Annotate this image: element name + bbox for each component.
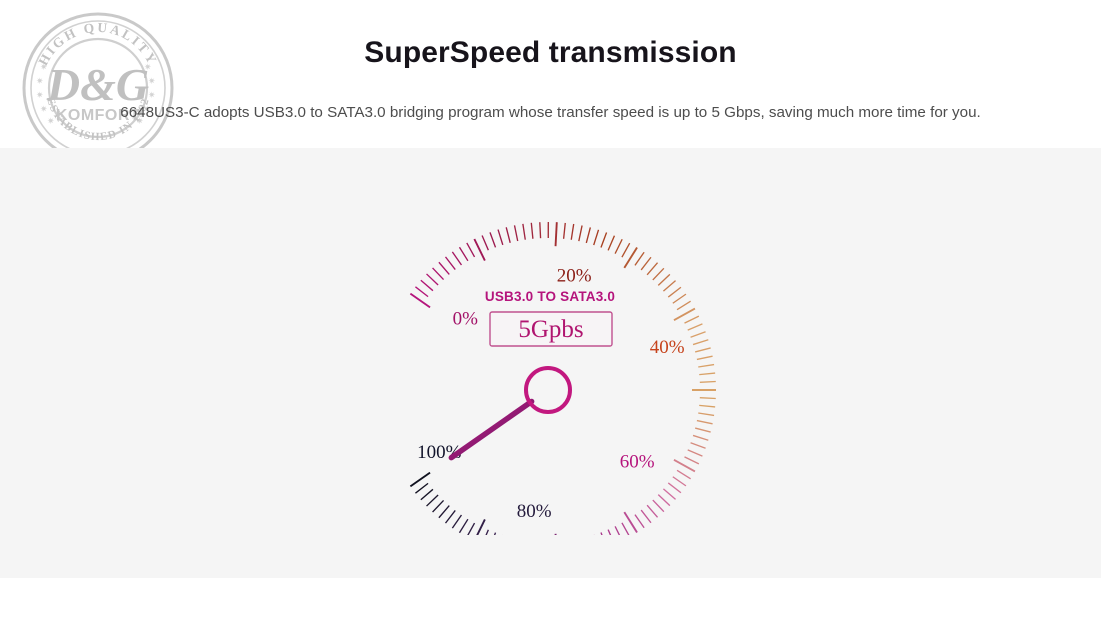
gauge-tick [688,450,703,456]
gauge-tick [459,519,467,533]
gauge-tick [668,483,681,493]
svg-text:✷: ✷ [36,91,44,101]
gauge-tick [427,495,439,506]
gauge-tick [531,223,533,239]
gauge-tick [433,268,444,280]
gauge-tick [421,489,433,499]
gauge-tick [523,224,525,240]
gauge-tick [693,435,708,440]
gauge-tick [641,257,651,270]
gauge-tick [673,294,686,303]
gauge-tick [540,222,541,238]
gauge-tick [474,239,485,261]
gauge-tick [415,287,428,297]
gauge-tick [571,224,573,240]
gauge-tick-label: 20% [557,266,592,287]
gauge-tick [697,356,713,359]
gauge-tick [674,309,695,321]
speed-gauge: 0%20%40%60%80%100% USB3.0 TO SATA3.0 5Gp… [378,180,723,535]
gauge-tick [615,526,622,535]
gauge-tick [564,223,566,239]
gauge-tick [608,530,614,535]
gauge-tick [446,510,456,523]
gauge-tick [474,519,485,535]
gauge-tick [647,505,657,517]
gauge-tick [601,532,607,535]
gauge-tick [467,243,475,257]
gauge-tick [700,382,716,383]
needle-hub [526,368,570,412]
gauge-tick [699,405,715,407]
gauge-tick [685,316,699,323]
header-band: ✷✷✷ ✷✷ ✷✷✷ ✷✷ HIGH QUALITY ESTABLISHED I… [0,0,1101,148]
gauge-tick [693,340,708,345]
gauge-tick [635,252,644,265]
gauge-tick [641,510,651,523]
gauge-tick [586,227,590,242]
gauge-needle [451,368,570,458]
gauge-tick [674,460,695,472]
gauge-tick [459,247,467,261]
gauge-tick [691,332,706,338]
gauge-tick [677,470,691,478]
gauge-tick [658,495,670,506]
gauge-tick [688,324,703,330]
gauge-tick [677,301,691,309]
gauge-tick [421,280,433,290]
gauge-tick [695,428,710,432]
gauge-title: USB3.0 TO SATA3.0 [485,289,615,304]
gauge-tick-label: 80% [517,501,552,522]
gauge-tick [579,225,582,241]
gauge-tick [446,257,456,270]
gauge-tick [506,227,510,243]
svg-text:✷: ✷ [148,91,156,101]
gauge-tick [653,268,664,280]
gauge-tick [415,483,428,493]
gauge-tick-label: 0% [453,309,479,330]
gauge-tick [439,506,449,518]
gauge-tick [622,243,630,257]
gauge-tick [615,239,622,253]
gauge-tick-label: 40% [650,337,685,358]
gauge-tick [556,222,557,246]
gauge-tick-labels: 0%20%40%60%80%100% [417,266,685,523]
gauge-tick [433,500,444,512]
gauge-tick [698,413,714,415]
gauge-tick [439,262,449,274]
gauge-tick [668,287,681,297]
gauge-tick [673,477,686,486]
gauge-tick [698,365,714,367]
needle-pointer [451,401,531,457]
gauge-tick [556,534,557,535]
gauge-tick [467,523,475,535]
gauge-tick [663,489,675,499]
gauge-tick [691,443,706,449]
gauge-tick [685,457,699,464]
gauge-tick [622,523,630,535]
page-title: SuperSpeed transmission [0,36,1101,70]
gauge-tick [490,533,496,535]
gauge-tick [427,274,439,285]
gauge-tick [699,373,715,375]
watermark-stamp: ✷✷✷ ✷✷ ✷✷✷ ✷✷ HIGH QUALITY ESTABLISHED I… [18,8,178,148]
gauge-tick [647,263,657,275]
gauge-tick [601,233,607,248]
svg-text:✷: ✷ [36,77,44,87]
gauge-value-label: 5Gpbs [518,316,583,343]
gauge-tick [608,236,614,251]
gauge-tick [658,274,670,285]
gauge-tick-label: 60% [620,452,655,473]
footer-spacer [0,578,1101,631]
gauge-tick [482,235,488,250]
gauge-tick [700,398,716,399]
gauge-tick [695,348,710,352]
gauge-tick [498,230,503,245]
gauge-panel: 0%20%40%60%80%100% USB3.0 TO SATA3.0 5Gp… [0,148,1101,578]
gauge-tick [594,230,599,245]
gauge-tick [482,530,488,535]
gauge-tick [452,252,461,265]
gauge-tick [515,225,518,241]
gauge-tick [452,515,461,528]
page-subtitle: 6648US3-C adopts USB3.0 to SATA3.0 bridg… [0,104,1101,121]
gauge-tick [490,232,496,247]
gauge-tick [635,515,644,528]
gauge-tick [663,281,675,291]
svg-text:✷: ✷ [148,77,156,87]
gauge-tick [653,500,664,512]
gauge-tick [697,421,713,424]
